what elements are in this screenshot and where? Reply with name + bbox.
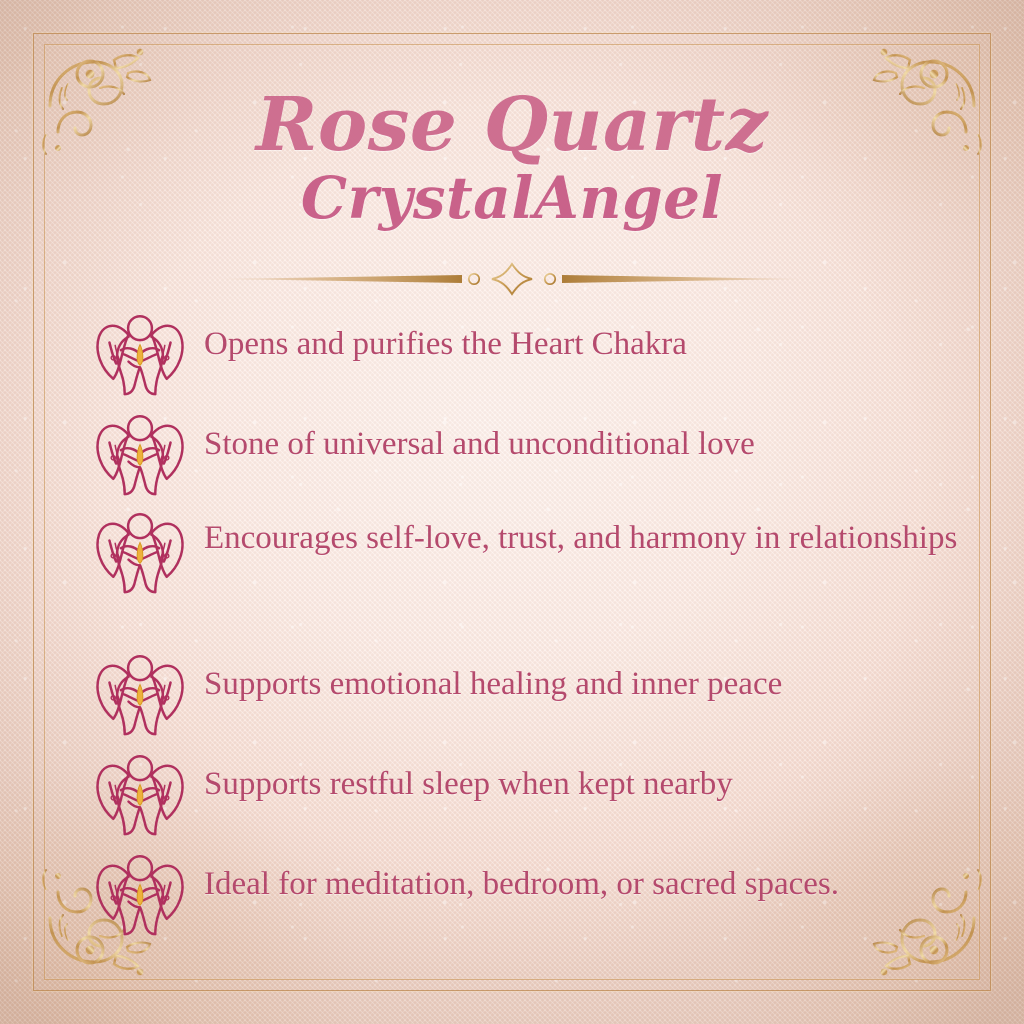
gold-flame-accent <box>137 542 143 563</box>
gold-flame-accent <box>137 884 143 905</box>
list-item: Ideal for meditation, bedroom, or sacred… <box>92 848 964 948</box>
angel-icon <box>92 652 188 736</box>
page-title: Rose Quartz CrystalAngel <box>0 88 1024 229</box>
gold-flame-accent <box>137 444 143 465</box>
gold-flame-accent <box>137 684 143 705</box>
angel-icon <box>92 510 188 594</box>
benefits-list: Opens and purifies the Heart Chakra <box>92 308 964 948</box>
list-item: Opens and purifies the Heart Chakra <box>92 308 964 408</box>
list-item: Encourages self-love, trust, and harmony… <box>92 508 964 648</box>
list-item: Supports restful sleep when kept nearby <box>92 748 964 848</box>
angel-icon <box>92 312 188 396</box>
rose-quartz-crystal-angel-card: Rose Quartz CrystalAngel <box>0 0 1024 1024</box>
angel-icon <box>92 412 188 496</box>
list-item: Supports emotional healing and inner pea… <box>92 648 964 748</box>
angel-icon <box>92 752 188 836</box>
diamond-ornament-divider <box>212 262 812 296</box>
gold-flame-accent <box>137 784 143 805</box>
list-item-label: Supports emotional healing and inner pea… <box>188 648 964 706</box>
list-item-label: Encourages self-love, trust, and harmony… <box>188 508 964 560</box>
list-item-label: Supports restful sleep when kept nearby <box>188 748 964 806</box>
list-item-label: Stone of universal and unconditional lov… <box>188 408 964 466</box>
title-main: Rose Quartz <box>0 88 1024 162</box>
list-item-label: Opens and purifies the Heart Chakra <box>188 308 964 366</box>
gold-flame-accent <box>137 344 143 365</box>
list-item-label: Ideal for meditation, bedroom, or sacred… <box>188 848 964 906</box>
list-item: Stone of universal and unconditional lov… <box>92 408 964 508</box>
title-subtitle: CrystalAngel <box>0 168 1024 229</box>
angel-icon <box>92 852 188 936</box>
